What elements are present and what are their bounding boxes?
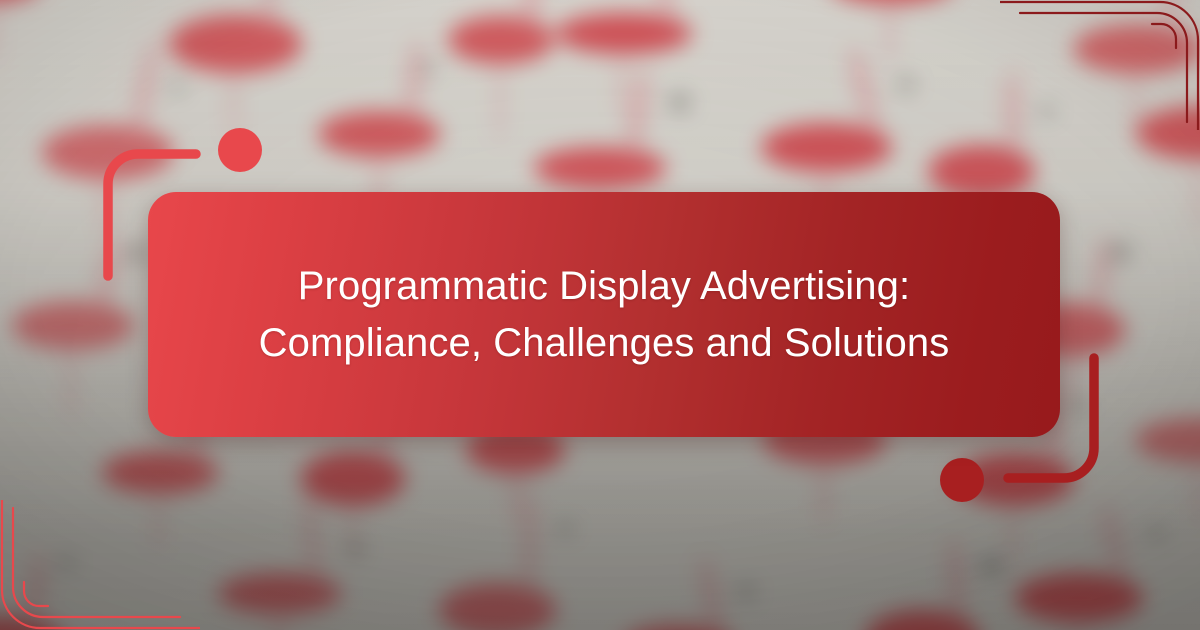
page-title: Programmatic Display Advertising: Compli…	[213, 258, 996, 372]
accent-dot-top-left-icon	[218, 128, 262, 172]
share-card-canvas: Programmatic Display Advertising: Compli…	[0, 0, 1200, 630]
title-card: Programmatic Display Advertising: Compli…	[148, 192, 1060, 437]
accent-dot-bottom-right-icon	[940, 458, 984, 502]
